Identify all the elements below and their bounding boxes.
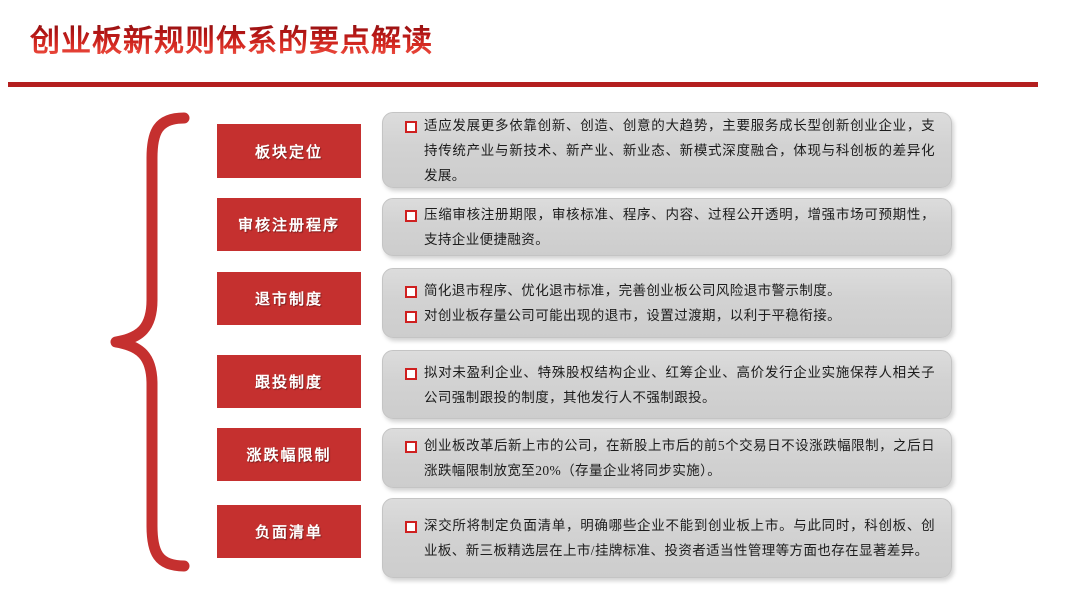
bullet-text: 创业板改革后新上市的公司，在新股上市后的前5个交易日不设涨跌幅限制，之后日涨跌幅… xyxy=(424,433,935,483)
category-chip-label: 审核注册程序 xyxy=(238,214,340,235)
left-curly-brace-icon xyxy=(110,112,194,572)
bullet-text: 对创业板存量公司可能出现的退市，设置过渡期，以利于平稳衔接。 xyxy=(424,303,935,328)
square-bullet-icon xyxy=(405,368,417,380)
category-chip-5[interactable]: 涨跌幅限制 xyxy=(217,428,361,481)
square-bullet-icon xyxy=(405,286,417,298)
content-card-1[interactable]: 适应发展更多依靠创新、创造、创意的大趋势，主要服务成长型创新创业企业，支持传统产… xyxy=(382,112,952,188)
bullet-item: 创业板改革后新上市的公司，在新股上市后的前5个交易日不设涨跌幅限制，之后日涨跌幅… xyxy=(405,433,935,483)
square-bullet-icon xyxy=(405,311,417,323)
category-chip-4[interactable]: 跟投制度 xyxy=(217,355,361,408)
content-card-2[interactable]: 压缩审核注册期限，审核标准、程序、内容、过程公开透明，增强市场可预期性，支持企业… xyxy=(382,198,952,256)
square-bullet-icon xyxy=(405,521,417,533)
bullet-text: 深交所将制定负面清单，明确哪些企业不能到创业板上市。与此同时，科创板、创业板、新… xyxy=(424,513,935,563)
category-chip-3[interactable]: 退市制度 xyxy=(217,272,361,325)
bullet-item: 压缩审核注册期限，审核标准、程序、内容、过程公开透明，增强市场可预期性，支持企业… xyxy=(405,202,935,252)
category-chip-6[interactable]: 负面清单 xyxy=(217,505,361,558)
slide-canvas: 创业板新规则体系的要点解读 板块定位 适应发展更多依靠创新、创造、创意的大趋势，… xyxy=(0,0,1066,600)
square-bullet-icon xyxy=(405,441,417,453)
page-title: 创业板新规则体系的要点解读 xyxy=(30,22,433,62)
bullet-item: 简化退市程序、优化退市标准，完善创业板公司风险退市警示制度。 xyxy=(405,278,935,303)
bullet-item: 拟对未盈利企业、特殊股权结构企业、红筹企业、高价发行企业实施保荐人相关子公司强制… xyxy=(405,360,935,410)
category-chip-label: 板块定位 xyxy=(255,141,323,162)
bullet-item: 适应发展更多依靠创新、创造、创意的大趋势，主要服务成长型创新创业企业，支持传统产… xyxy=(405,113,935,188)
content-card-5[interactable]: 创业板改革后新上市的公司，在新股上市后的前5个交易日不设涨跌幅限制，之后日涨跌幅… xyxy=(382,428,952,488)
square-bullet-icon xyxy=(405,121,417,133)
category-chip-label: 涨跌幅限制 xyxy=(246,444,331,465)
bullet-text: 拟对未盈利企业、特殊股权结构企业、红筹企业、高价发行企业实施保荐人相关子公司强制… xyxy=(424,360,935,410)
title-underline-rule xyxy=(8,82,1038,87)
category-chip-label: 负面清单 xyxy=(255,521,323,542)
category-chip-label: 跟投制度 xyxy=(255,371,323,392)
content-card-4[interactable]: 拟对未盈利企业、特殊股权结构企业、红筹企业、高价发行企业实施保荐人相关子公司强制… xyxy=(382,350,952,419)
category-chip-2[interactable]: 审核注册程序 xyxy=(217,198,361,251)
square-bullet-icon xyxy=(405,210,417,222)
bullet-text: 简化退市程序、优化退市标准，完善创业板公司风险退市警示制度。 xyxy=(424,278,935,303)
category-chip-label: 退市制度 xyxy=(255,288,323,309)
bullet-text: 压缩审核注册期限，审核标准、程序、内容、过程公开透明，增强市场可预期性，支持企业… xyxy=(424,202,935,252)
bullet-text: 适应发展更多依靠创新、创造、创意的大趋势，主要服务成长型创新创业企业，支持传统产… xyxy=(424,113,935,188)
content-card-3[interactable]: 简化退市程序、优化退市标准，完善创业板公司风险退市警示制度。 对创业板存量公司可… xyxy=(382,268,952,338)
content-card-6[interactable]: 深交所将制定负面清单，明确哪些企业不能到创业板上市。与此同时，科创板、创业板、新… xyxy=(382,498,952,578)
category-chip-1[interactable]: 板块定位 xyxy=(217,124,361,178)
bullet-item: 深交所将制定负面清单，明确哪些企业不能到创业板上市。与此同时，科创板、创业板、新… xyxy=(405,513,935,563)
bullet-item: 对创业板存量公司可能出现的退市，设置过渡期，以利于平稳衔接。 xyxy=(405,303,935,328)
